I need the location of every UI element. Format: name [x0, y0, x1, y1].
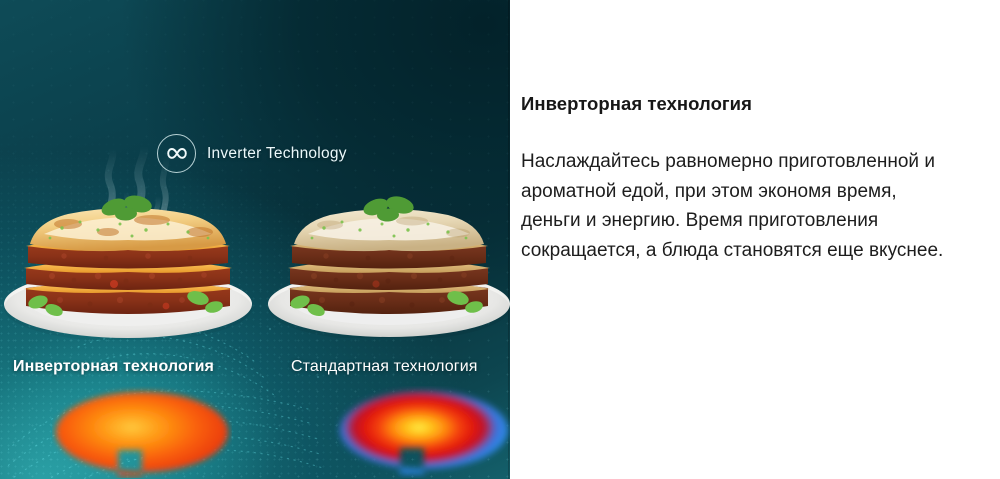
infinity-icon	[157, 134, 196, 173]
lasagna-standard-image	[266, 190, 510, 338]
inverter-technology-badge: Inverter Technology	[157, 134, 347, 173]
lasagna-inverter-image	[2, 188, 254, 340]
caption-inverter: Инверторная технология	[13, 358, 214, 376]
heatmap-standard-uneven	[334, 386, 510, 478]
promo-image-panel: Inverter Technology	[0, 0, 510, 479]
badge-label: Inverter Technology	[207, 145, 347, 163]
article-body: Наслаждайтесь равномерно приготовленной …	[521, 116, 953, 266]
article-text-column: Инверторная технология Наслаждайтесь рав…	[521, 92, 953, 266]
article-title: Инверторная технология	[521, 92, 953, 116]
promo-banner: Inverter Technology	[0, 0, 1000, 479]
heatmap-inverter-even	[52, 386, 232, 478]
caption-standard: Стандартная технология	[291, 358, 478, 376]
